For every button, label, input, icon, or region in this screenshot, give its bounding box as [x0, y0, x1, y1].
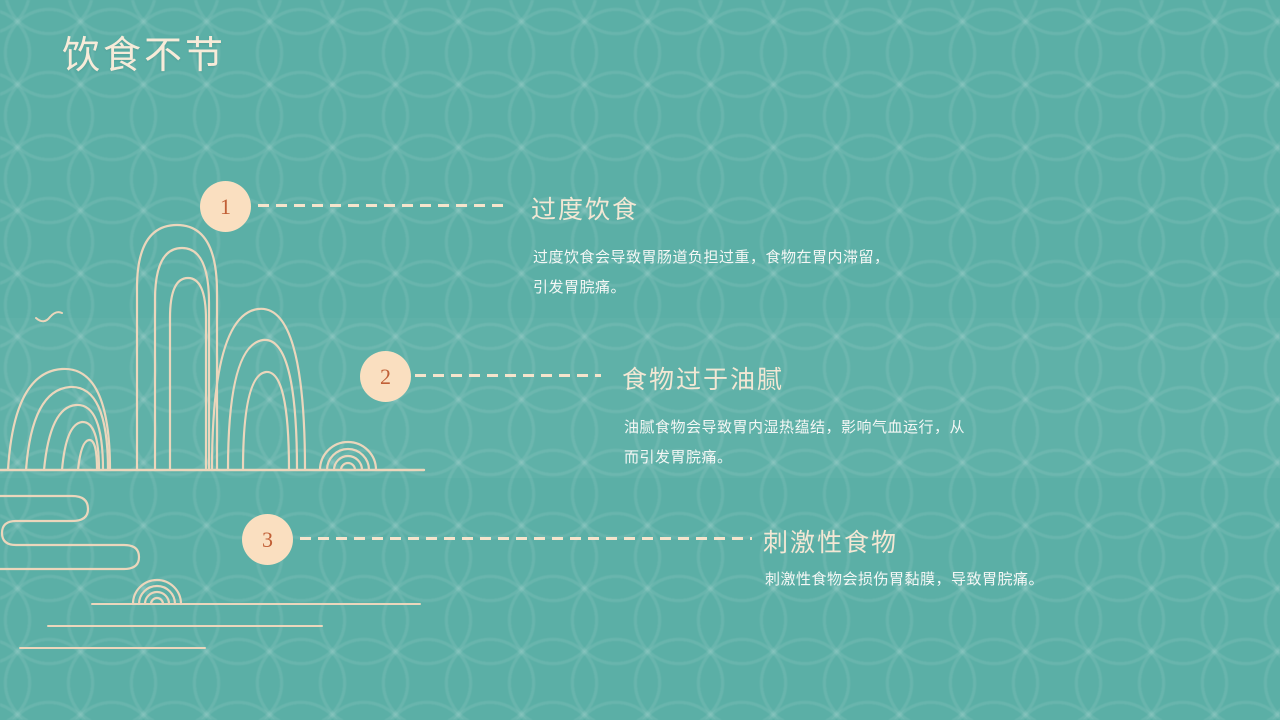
item-body-2-line-2: 而引发胃脘痛。 — [624, 443, 1094, 473]
item-body-1-line-1: 过度饮食会导致胃肠道负担过重，食物在胃内滞留， — [533, 243, 1003, 273]
connector-dashed-line-2 — [415, 374, 601, 377]
item-body-2: 油腻食物会导致胃内湿热蕴结，影响气血运行，从 而引发胃脘痛。 — [624, 413, 1094, 473]
item-heading-3: 刺激性食物 — [763, 523, 898, 559]
item-body-3: 刺激性食物会损伤胃黏膜，导致胃脘痛。 — [765, 565, 1235, 595]
step-badge-2[interactable]: 2 — [360, 351, 411, 402]
item-heading-2: 食物过于油腻 — [622, 360, 784, 396]
page-title: 饮食不节 — [62, 24, 226, 79]
item-heading-1: 过度饮食 — [531, 190, 639, 226]
item-body-3-line-1: 刺激性食物会损伤胃黏膜，导致胃脘痛。 — [765, 565, 1235, 595]
item-body-1: 过度饮食会导致胃肠道负担过重，食物在胃内滞留， 引发胃脘痛。 — [533, 243, 1003, 303]
connector-dashed-line-1 — [258, 204, 510, 207]
item-body-2-line-1: 油腻食物会导致胃内湿热蕴结，影响气血运行，从 — [624, 413, 1094, 443]
connector-dashed-line-3 — [300, 537, 752, 540]
slide-canvas: 饮食不节 1 过度饮食 过度饮食会导致胃肠道负担过重，食物在胃内滞留， 引发胃脘… — [0, 0, 1280, 720]
step-badge-1[interactable]: 1 — [200, 181, 251, 232]
item-body-1-line-2: 引发胃脘痛。 — [533, 273, 1003, 303]
step-badge-3[interactable]: 3 — [242, 514, 293, 565]
